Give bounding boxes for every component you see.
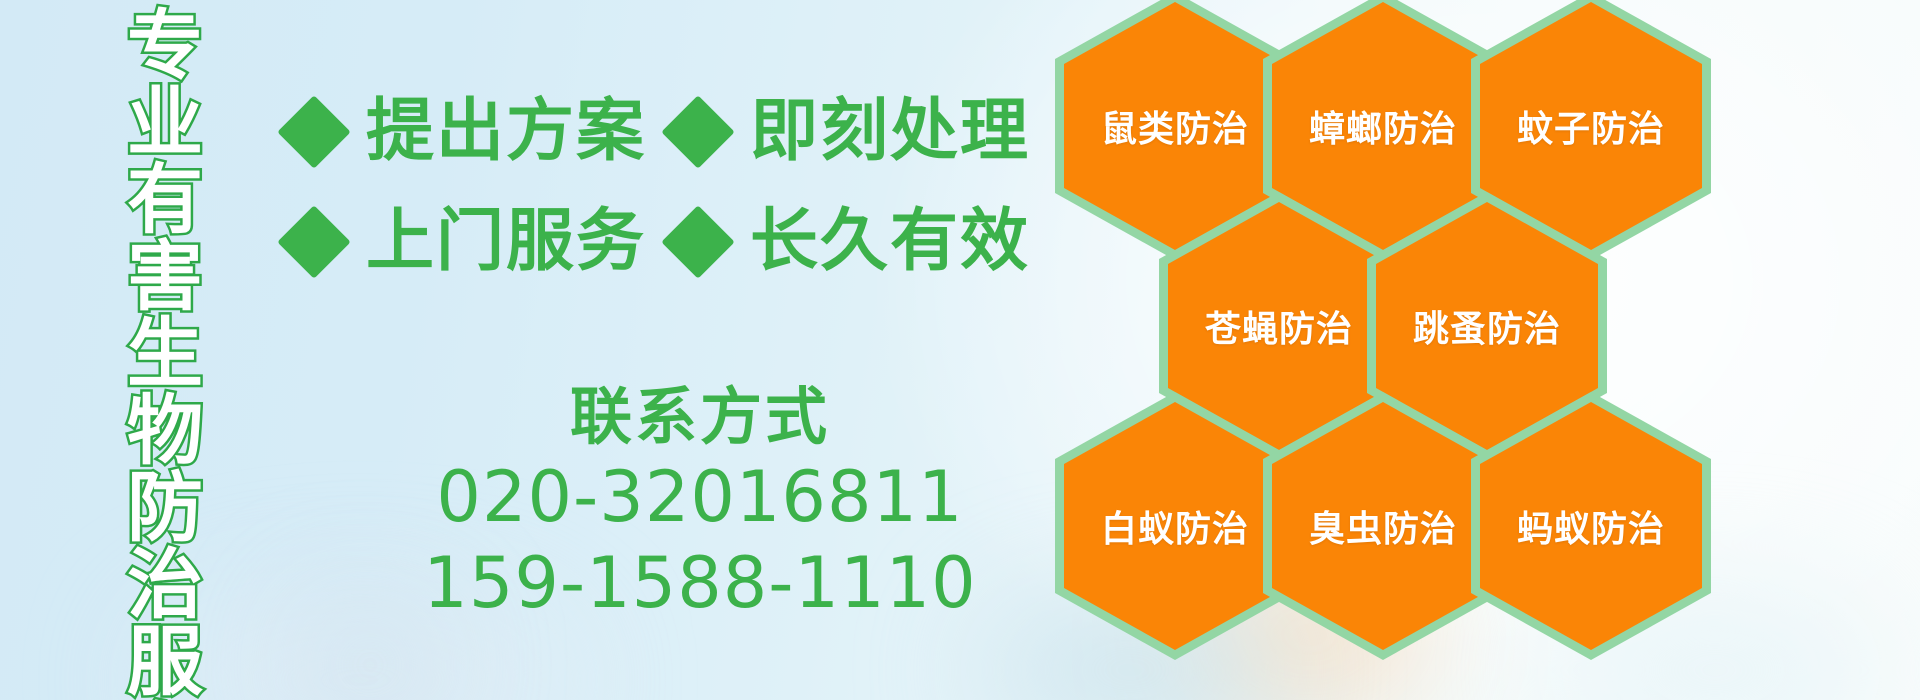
diamond-icon bbox=[661, 205, 735, 279]
service-hexagon-grid: 鼠类防治 蟑螂防治 蚊子防治 苍蝇防治 跳蚤防治 白蚁防治 臭虫防治 bbox=[1055, 0, 1815, 700]
diamond-icon bbox=[661, 95, 735, 169]
service-hex-label: 蚊子防治 bbox=[1517, 100, 1665, 152]
vertical-headline: 专 业 有 害 生 物 防 治 服 务 bbox=[110, 8, 220, 698]
slogan-row-1: 提出方案 即刻处理 bbox=[288, 96, 1030, 168]
slogan-row-2: 上门服务 长久有效 bbox=[288, 206, 1030, 278]
service-hex-label: 臭虫防治 bbox=[1309, 500, 1457, 552]
service-hex-label: 苍蝇防治 bbox=[1205, 300, 1353, 352]
vertical-headline-char: 防 bbox=[127, 470, 203, 546]
service-hex-label: 鼠类防治 bbox=[1101, 100, 1249, 152]
contact-phone-mobile[interactable]: 159-1588-1110 bbox=[380, 540, 1020, 626]
vertical-headline-char: 专 bbox=[127, 8, 203, 84]
vertical-headline-char: 业 bbox=[127, 85, 203, 161]
contact-block: 联系方式 020-32016811 159-1588-1110 bbox=[380, 380, 1020, 626]
contact-label: 联系方式 bbox=[380, 380, 1020, 454]
vertical-headline-char: 服 bbox=[127, 624, 203, 700]
contact-phone-landline[interactable]: 020-32016811 bbox=[380, 454, 1020, 540]
slogan-item-onsite-service: 上门服务 bbox=[366, 206, 646, 278]
diamond-icon bbox=[277, 205, 351, 279]
service-hex-label: 蚂蚁防治 bbox=[1517, 500, 1665, 552]
vertical-headline-char: 害 bbox=[127, 239, 203, 315]
service-hex-label: 白蚁防治 bbox=[1101, 500, 1249, 552]
slogan-item-long-lasting: 长久有效 bbox=[750, 206, 1030, 278]
slogan-item-propose-plan: 提出方案 bbox=[366, 96, 646, 168]
diamond-icon bbox=[277, 95, 351, 169]
vertical-headline-char: 物 bbox=[127, 393, 203, 469]
slogan-item-immediate-treatment: 即刻处理 bbox=[750, 96, 1030, 168]
vertical-headline-char: 生 bbox=[127, 316, 203, 392]
vertical-headline-char: 治 bbox=[127, 547, 203, 623]
pest-control-banner: 专 业 有 害 生 物 防 治 服 务 提出方案 即刻处理 上门服务 长久有效 … bbox=[0, 0, 1920, 700]
service-hex-label: 蟑螂防治 bbox=[1309, 100, 1457, 152]
vertical-headline-char: 有 bbox=[127, 162, 203, 238]
service-hex-label: 跳蚤防治 bbox=[1413, 300, 1561, 352]
